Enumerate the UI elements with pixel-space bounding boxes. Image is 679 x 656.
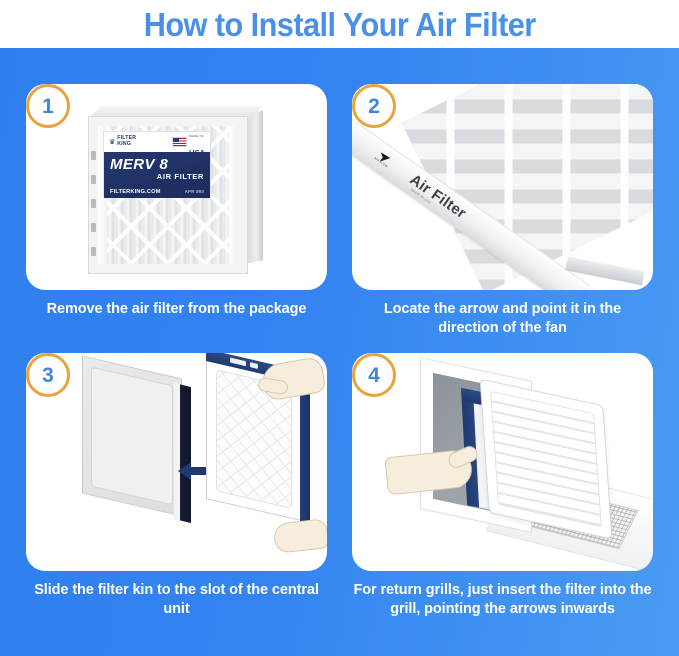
step-image-3: 3 bbox=[26, 353, 327, 571]
crown-icon: ♛ bbox=[109, 139, 115, 146]
step-number-4: 4 bbox=[368, 365, 380, 386]
central-unit-slot-rim bbox=[174, 382, 180, 521]
brand-name: FILTER KING bbox=[117, 136, 136, 147]
product-photo-air-filter: ♛ FILTER KING bbox=[26, 84, 327, 290]
step-card-1: ♛ FILTER KING bbox=[26, 84, 327, 319]
slot-scene bbox=[26, 353, 327, 571]
step-number-1: 1 bbox=[42, 96, 54, 117]
air-filter-product: ♛ FILTER KING bbox=[88, 106, 263, 274]
step-badge-3: 3 bbox=[26, 353, 70, 397]
page-title: How to Install Your Air Filter bbox=[144, 8, 536, 41]
label-bottom-row: FILTERKING.COM APR 850 bbox=[104, 189, 210, 195]
filter-tab bbox=[250, 362, 258, 369]
step-badge-4: 4 bbox=[352, 353, 396, 397]
filter-side-frame bbox=[300, 375, 310, 525]
filter-notch bbox=[91, 175, 96, 184]
central-unit-recess bbox=[91, 367, 173, 506]
hand-lower bbox=[273, 518, 327, 553]
step-card-3: 3 Slide the filter kin to the slot of th… bbox=[26, 353, 327, 619]
step-caption-2: Locate the arrow and point it in the dir… bbox=[352, 300, 653, 338]
steps-grid: ♛ FILTER KING bbox=[0, 48, 679, 656]
filter-notch bbox=[91, 223, 96, 232]
steps-panel: ♛ FILTER KING bbox=[0, 48, 679, 656]
brand-line-2: KING bbox=[117, 141, 131, 147]
step-card-2: ➤ AIR FLOW Air Filter MADE IN USA 2 Loca… bbox=[352, 84, 653, 338]
filter-notch bbox=[91, 151, 96, 160]
filter-notch bbox=[91, 247, 96, 256]
grill-scene bbox=[352, 353, 653, 571]
product-label: ♛ FILTER KING bbox=[103, 131, 211, 197]
made-in-label: MADE IN bbox=[189, 134, 203, 138]
filter-side-panel bbox=[247, 110, 263, 263]
corner-scene: ➤ AIR FLOW Air Filter MADE IN USA bbox=[352, 84, 653, 290]
filter-right-rail bbox=[229, 126, 238, 264]
step-badge-2: 2 bbox=[352, 84, 396, 128]
filter-tab bbox=[230, 358, 246, 367]
filter-corner-closeup: ➤ AIR FLOW Air Filter MADE IN USA bbox=[352, 84, 653, 290]
merv-rating: MERV 8 bbox=[110, 157, 204, 173]
central-unit-panel bbox=[82, 355, 182, 516]
step-caption-3: Slide the filter kin to the slot of the … bbox=[26, 581, 327, 619]
step-card-4: 4 For return grills, just insert the fil… bbox=[352, 353, 653, 619]
filter-notch bbox=[91, 199, 96, 208]
step-number-2: 2 bbox=[368, 96, 380, 117]
header: How to Install Your Air Filter bbox=[0, 0, 679, 48]
filter-front-face: ♛ FILTER KING bbox=[88, 116, 248, 274]
step-number-3: 3 bbox=[42, 365, 54, 386]
step-caption-1: Remove the air filter from the package bbox=[26, 300, 327, 319]
label-brand-row: ♛ FILTER KING bbox=[104, 132, 210, 152]
illustration-slide-into-slot bbox=[26, 353, 327, 571]
apr-rating: APR 850 bbox=[185, 189, 204, 194]
grill-louvers bbox=[490, 391, 602, 527]
infographic-root: How to Install Your Air Filter bbox=[0, 0, 679, 656]
website-text: FILTERKING.COM bbox=[110, 189, 161, 195]
step-badge-1: 1 bbox=[26, 84, 70, 128]
label-navy-block: MERV 8 AIR FILTER FILTERKING.COM APR 850 bbox=[104, 152, 210, 198]
step-image-2: ➤ AIR FLOW Air Filter MADE IN USA 2 bbox=[352, 84, 653, 290]
us-flag-icon bbox=[172, 137, 187, 147]
product-type: AIR FILTER bbox=[110, 172, 204, 181]
filter-king-logo: ♛ FILTER KING bbox=[109, 136, 136, 147]
step-caption-4: For return grills, just insert the filte… bbox=[352, 581, 653, 619]
step-image-4: 4 bbox=[352, 353, 653, 571]
step-image-1: ♛ FILTER KING bbox=[26, 84, 327, 290]
illustration-return-grill bbox=[352, 353, 653, 571]
